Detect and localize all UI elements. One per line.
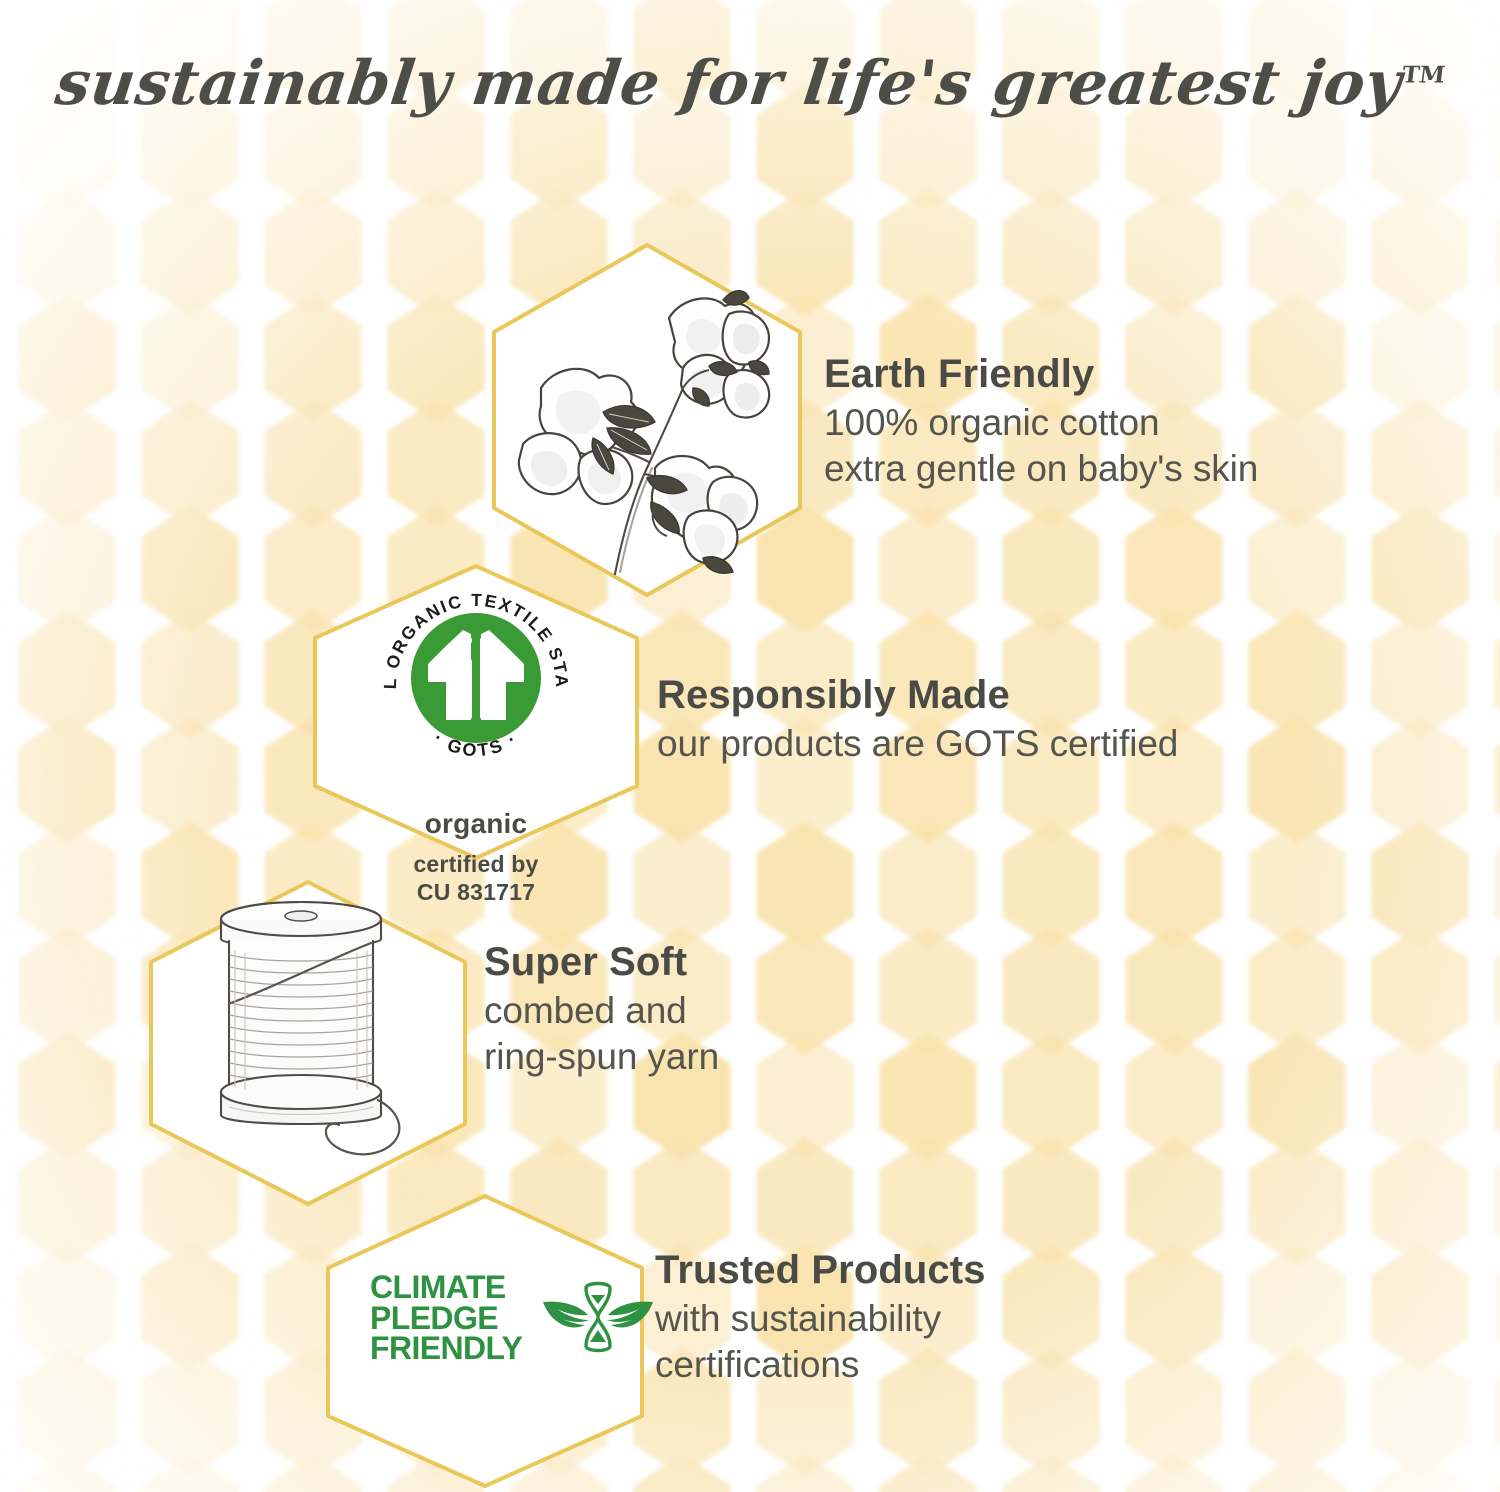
- feature-super-soft: Super Soft combed and ring-spun yarn: [484, 940, 719, 1080]
- cpf-line-2: PLEDGE: [370, 1303, 522, 1334]
- feature-title: Super Soft: [484, 940, 719, 985]
- feature-trusted-products: Trusted Products with sustainability cer…: [655, 1248, 986, 1388]
- gots-seal-icon: GLOBAL ORGANIC TEXTILE STANDARD · GOTS ·: [368, 578, 584, 794]
- trademark-symbol: TM: [1401, 62, 1447, 89]
- feature-line: ring-spun yarn: [484, 1034, 719, 1080]
- cpf-line-3: FRIENDLY: [370, 1333, 522, 1364]
- feature-responsibly-made: Responsibly Made our products are GOTS c…: [657, 673, 1178, 767]
- feature-line: 100% organic cotton: [824, 400, 1258, 446]
- thread-spool-sketch-icon: [195, 895, 430, 1165]
- feature-line: certifications: [655, 1342, 986, 1388]
- feature-line: our products are GOTS certified: [657, 721, 1178, 767]
- feature-title: Earth Friendly: [824, 352, 1258, 397]
- feature-line: with sustainability: [655, 1296, 986, 1342]
- winged-hourglass-icon: [539, 1278, 657, 1358]
- feature-line: extra gentle on baby's skin: [824, 446, 1258, 492]
- feature-line: combed and: [484, 988, 719, 1034]
- sustainability-infographic: sustainably made for life's greatest joy…: [0, 0, 1500, 1492]
- page-headline: sustainably made for life's greatest joy…: [0, 48, 1500, 119]
- gots-organic-badge: GLOBAL ORGANIC TEXTILE STANDARD · GOTS ·…: [336, 578, 616, 906]
- headline-text: sustainably made for life's greatest joy: [52, 48, 1406, 119]
- feature-title: Responsibly Made: [657, 673, 1178, 718]
- gots-certified-by: certified by: [336, 850, 616, 878]
- feature-title: Trusted Products: [655, 1248, 986, 1293]
- climate-pledge-friendly-logo: CLIMATE PLEDGE FRIENDLY: [370, 1272, 657, 1364]
- feature-earth-friendly: Earth Friendly 100% organic cotton extra…: [824, 352, 1258, 492]
- cpf-line-1: CLIMATE: [370, 1272, 522, 1303]
- gots-organic-label: organic: [336, 808, 616, 840]
- cotton-branch-sketch-icon: [497, 262, 797, 582]
